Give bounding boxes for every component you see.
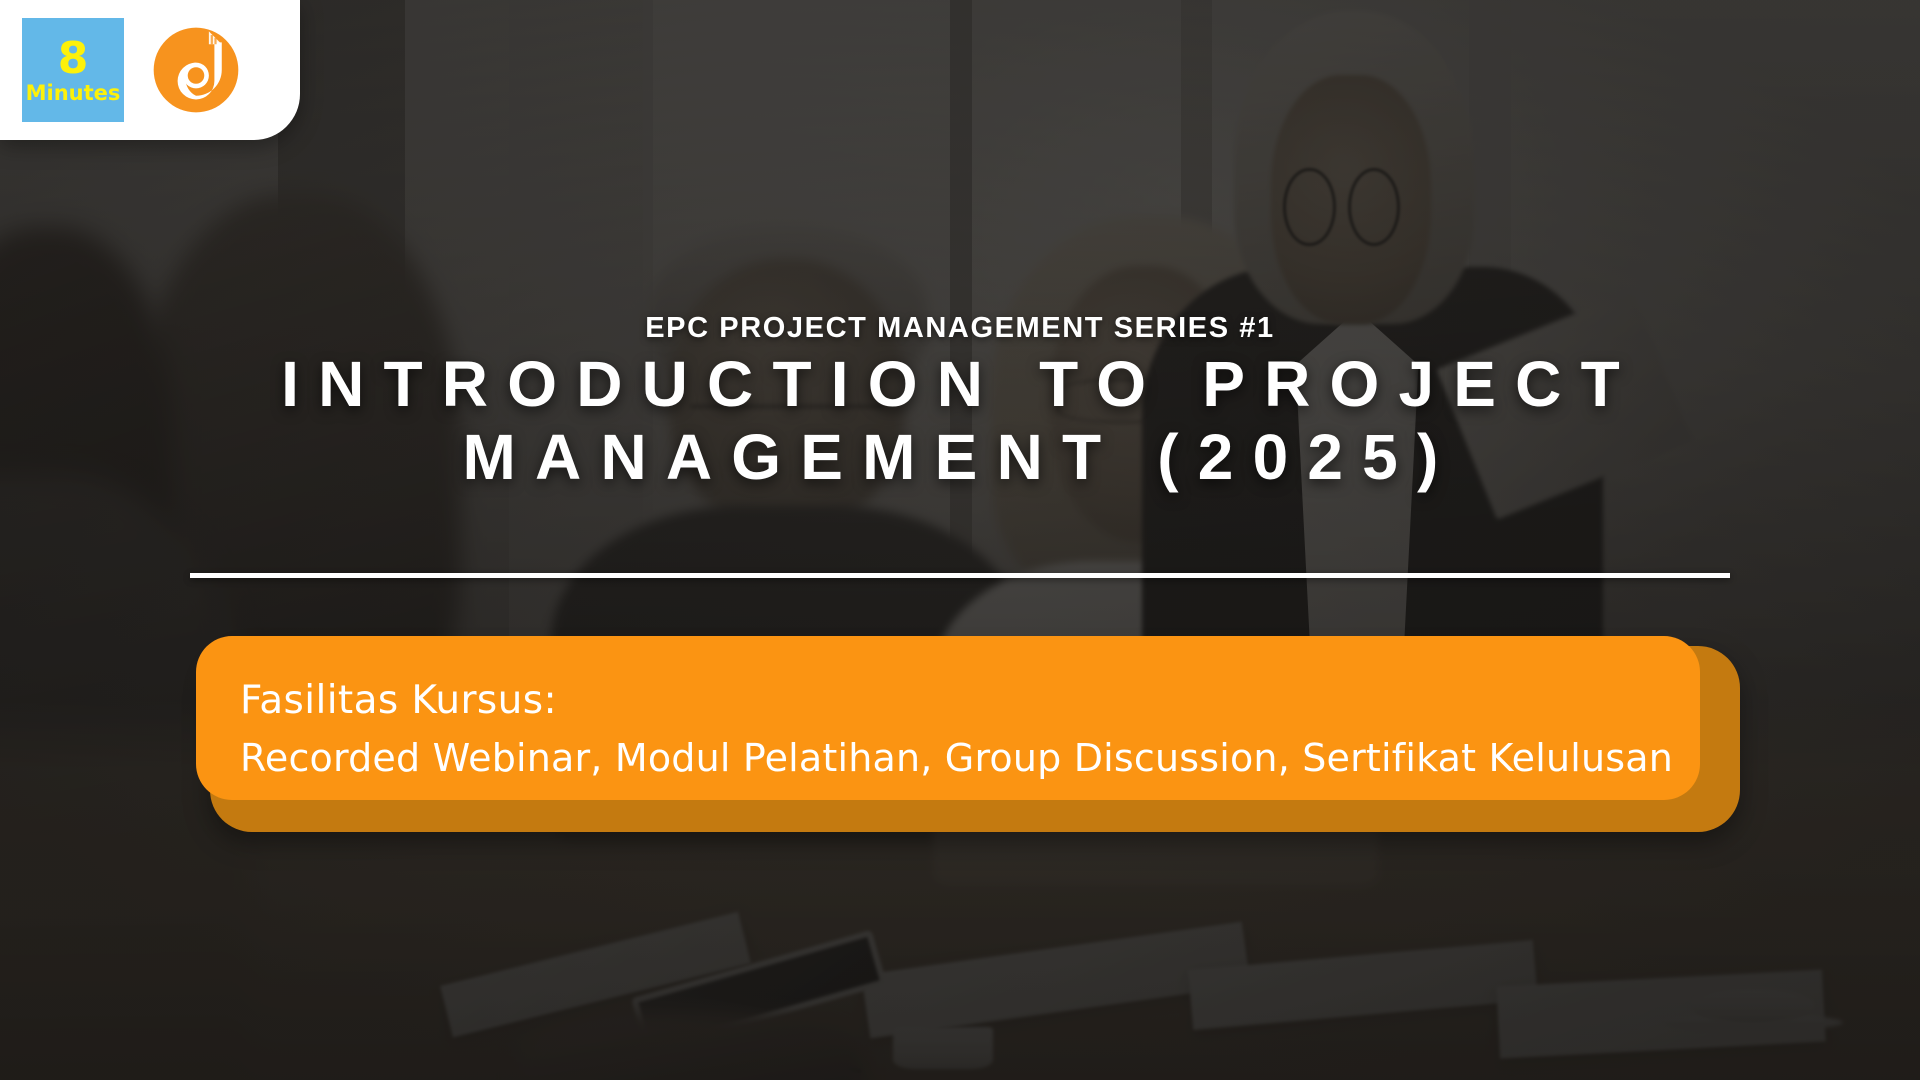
promo-slide: 8 Minutes EPC PROJECT MANAGEMENT SERIES …: [0, 0, 1920, 1080]
banner-items-text: Recorded Webinar, Modul Pelatihan, Group…: [240, 737, 1656, 781]
page-title: INTRODUCTION TO PROJECT MANAGEMENT (2025…: [0, 348, 1920, 494]
banner-heading: Fasilitas Kursus:: [240, 680, 1656, 723]
title-divider: [190, 573, 1730, 578]
facilities-banner: Fasilitas Kursus: Recorded Webinar, Modu…: [196, 636, 1726, 822]
eight-minutes-word: Minutes: [26, 83, 121, 104]
brand-d-logo-icon: [150, 24, 242, 116]
title-line-2: MANAGEMENT (2025): [80, 421, 1840, 494]
logo-badge[interactable]: 8 Minutes: [0, 0, 300, 140]
hero-content: EPC PROJECT MANAGEMENT SERIES #1 INTRODU…: [0, 0, 1920, 1080]
banner-panel: Fasilitas Kursus: Recorded Webinar, Modu…: [196, 636, 1700, 800]
title-line-1: INTRODUCTION TO PROJECT: [80, 348, 1840, 421]
eight-minutes-logo: 8 Minutes: [22, 18, 124, 122]
eight-minutes-number: 8: [58, 37, 89, 81]
series-eyebrow: EPC PROJECT MANAGEMENT SERIES #1: [0, 312, 1920, 345]
